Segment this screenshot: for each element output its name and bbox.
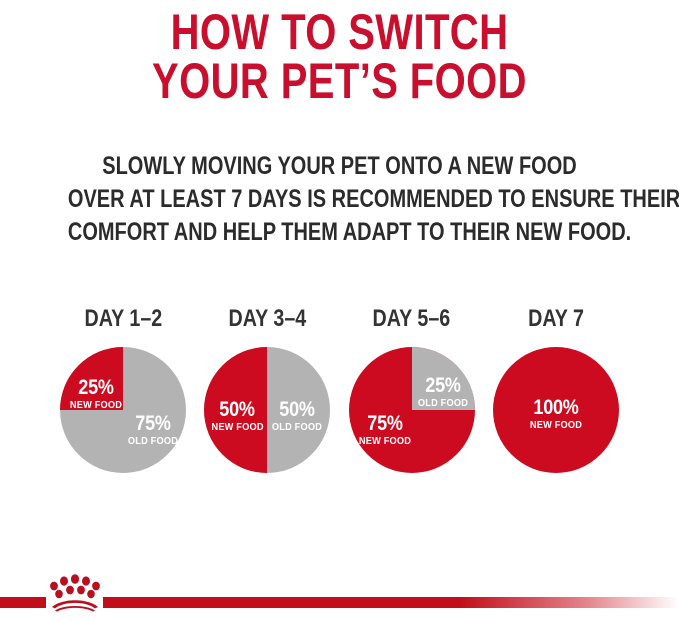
new-food-slice: [204, 347, 267, 473]
footer-rule-right-segment: [103, 597, 679, 608]
pie-svg-day-5-6: [349, 347, 475, 473]
crown-icon: [46, 570, 104, 612]
new-food-slice: [493, 347, 619, 473]
page-subtitle-line-3: COMFORT AND HELP THEM ADAPT TO THEIR NEW…: [68, 216, 611, 249]
pie-svg-day-1-2: [60, 347, 186, 473]
page-title-line-1: HOW TO SWITCH: [68, 8, 611, 57]
page-title-line-2: YOUR PET’S FOOD: [68, 57, 611, 106]
pie-chart-day-7: 100% NEW FOOD: [493, 347, 619, 473]
day-label-2: DAY 3–4: [228, 305, 306, 333]
pie-svg-day-7: [493, 347, 619, 473]
page-title: HOW TO SWITCH YOUR PET’S FOOD: [68, 8, 611, 106]
pie-chart-row: DAY 1–2 25% NEW FOOD 75% OLD FOOD DAY 3–…: [0, 305, 679, 485]
pie-cell-day-1-2: DAY 1–2 25% NEW FOOD 75% OLD FOOD: [58, 305, 188, 473]
pie-chart-day-1-2: 25% NEW FOOD 75% OLD FOOD: [60, 347, 186, 473]
page-subtitle-line-1: SLOWLY MOVING YOUR PET ONTO A NEW FOOD: [68, 150, 611, 183]
new-food-slice: [60, 347, 123, 410]
pie-chart-day-5-6: 25% OLD FOOD 75% NEW FOOD: [349, 347, 475, 473]
footer-rule-left-segment: [0, 597, 46, 608]
page-subtitle: SLOWLY MOVING YOUR PET ONTO A NEW FOOD O…: [68, 150, 611, 249]
day-label-1: DAY 1–2: [84, 305, 162, 333]
page-subtitle-line-2: OVER AT LEAST 7 DAYS IS RECOMMENDED TO E…: [68, 183, 611, 216]
royal-canin-crown-logo: [46, 570, 104, 612]
old-food-slice: [412, 347, 475, 410]
pie-svg-day-3-4: [204, 347, 330, 473]
pie-cell-day-5-6: DAY 5–6 25% OLD FOOD 75% NEW FOOD: [347, 305, 477, 473]
pie-cell-day-3-4: DAY 3–4 50% NEW FOOD 50% OLD FOOD: [202, 305, 332, 473]
pie-chart-day-3-4: 50% NEW FOOD 50% OLD FOOD: [204, 347, 330, 473]
pie-cell-day-7: DAY 7 100% NEW FOOD: [491, 305, 621, 473]
day-label-4: DAY 7: [528, 305, 584, 333]
day-label-3: DAY 5–6: [373, 305, 451, 333]
